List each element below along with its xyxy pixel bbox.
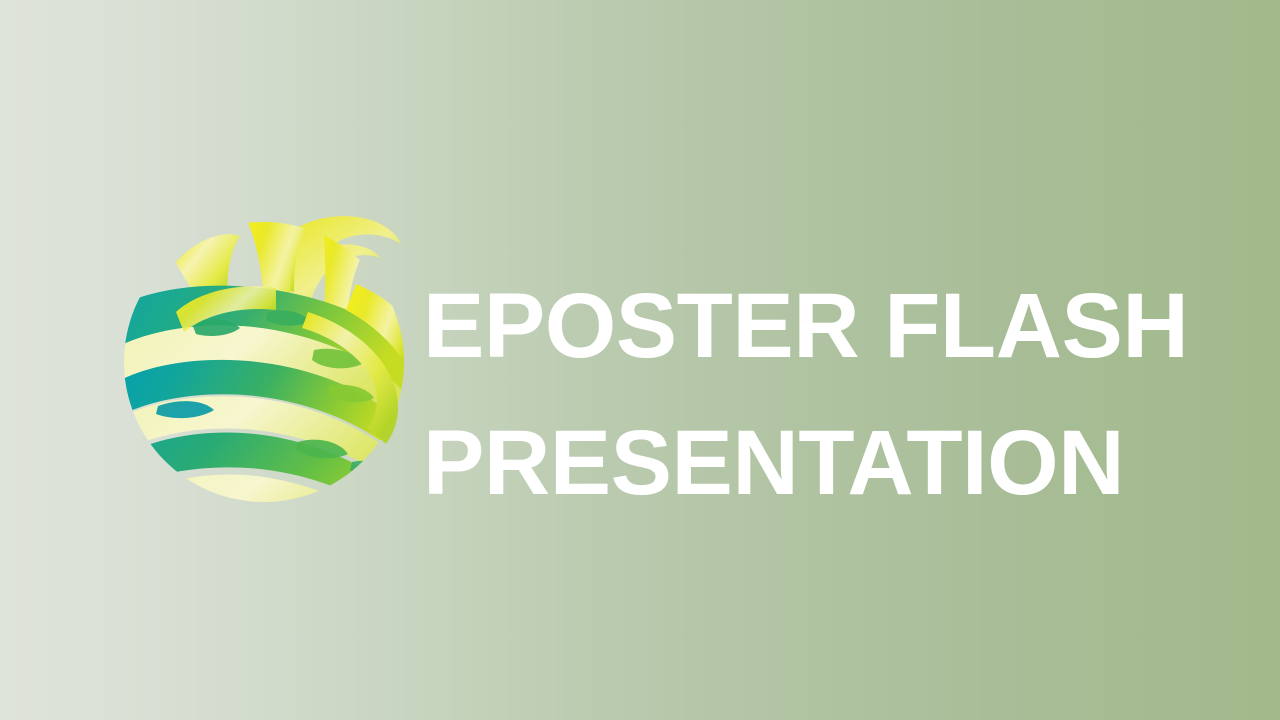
presentation-slide: EPOSTER FLASH PRESENTATION bbox=[0, 0, 1280, 720]
title-line-1: EPOSTER FLASH bbox=[423, 258, 1223, 395]
spiral-ribbon-globe-logo bbox=[118, 200, 410, 520]
title-line-2: PRESENTATION bbox=[423, 395, 1223, 532]
page-title: EPOSTER FLASH PRESENTATION bbox=[423, 258, 1223, 532]
